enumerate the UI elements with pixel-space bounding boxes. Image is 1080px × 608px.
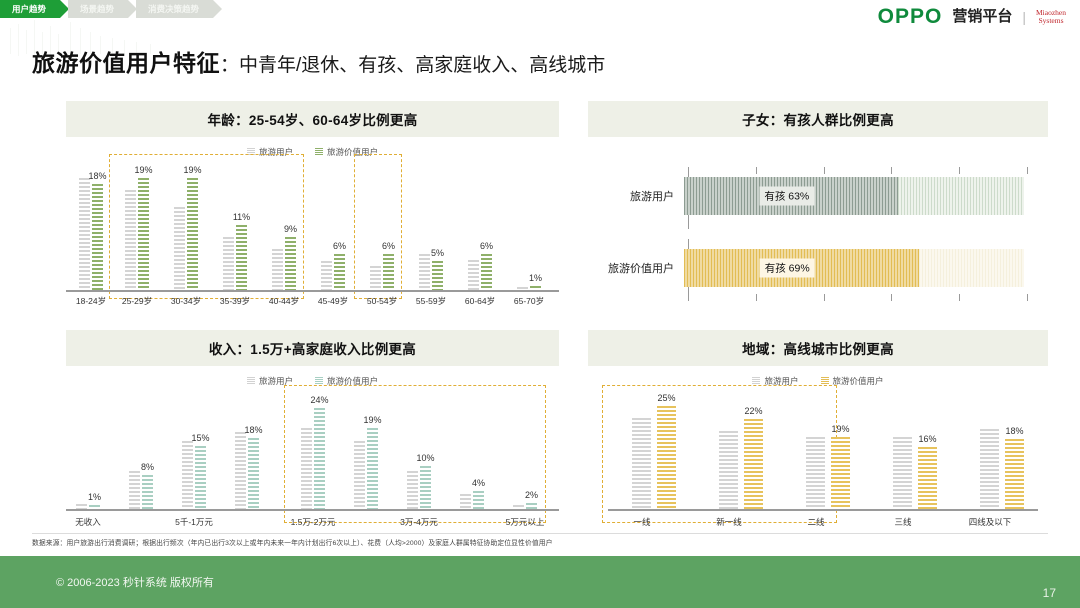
- bar-value-label: 25%: [657, 393, 675, 403]
- bar-value-label: 18%: [244, 425, 262, 435]
- bar-value-label: 9%: [284, 224, 297, 234]
- region-x-label: 新一线: [689, 516, 769, 528]
- footer-bar: © 2006-2023 秒针系统 版权所有 17: [0, 556, 1080, 608]
- tab-scene-trend[interactable]: 场景趋势: [68, 0, 128, 18]
- children-no-kid-segment: [919, 249, 1024, 287]
- region-group: 25%: [628, 399, 680, 509]
- tick: [688, 294, 689, 301]
- panel-region: 地域：高线城市比例更高 旅游用户 旅游价值用户 25% 22%: [588, 330, 1048, 530]
- tick: [891, 294, 892, 301]
- age-x-label: 55-59岁: [406, 295, 456, 307]
- age-x-label: 30-34岁: [161, 295, 211, 307]
- age-x-label: 60-64岁: [455, 295, 505, 307]
- income-group: 4%: [455, 399, 489, 509]
- bar-value: 19%: [187, 178, 198, 290]
- age-group: 18%: [74, 172, 108, 290]
- region-x-label: 四线及以下: [946, 516, 1034, 528]
- bar-value: 6%: [334, 254, 345, 290]
- children-row-value: 旅游价值用户 有孩 69%: [588, 249, 1028, 287]
- bar-value-label: 2%: [525, 490, 538, 500]
- region-group: 19%: [802, 399, 854, 509]
- bar-value: 5%: [432, 261, 443, 290]
- children-has-kid-segment: 有孩 69%: [684, 249, 919, 287]
- page-number: 17: [1043, 586, 1056, 600]
- page-title-rest: ：中青年/退休、有孩、高家庭收入、高线城市: [220, 50, 605, 77]
- legend-swatch-icon: [315, 377, 323, 385]
- tick: [824, 294, 825, 301]
- income-group: 1%: [71, 399, 105, 509]
- children-row-label: 旅游用户: [588, 188, 684, 204]
- bar-base: [321, 261, 332, 290]
- bar-base: [893, 437, 912, 509]
- region-group: 22%: [715, 399, 767, 509]
- children-row-track: 有孩 63%: [684, 177, 1024, 215]
- bar-value-label: 24%: [310, 395, 328, 405]
- bar-value-label: 10%: [416, 453, 434, 463]
- bar-value-label: 18%: [88, 171, 106, 181]
- age-group: 9%: [267, 172, 301, 290]
- bar-base: [460, 494, 471, 509]
- bar-value: 9%: [285, 237, 296, 290]
- panel-children: 子女：有孩人群比例更高 旅游用户 有孩 63% 旅游价值用户: [588, 101, 1048, 306]
- children-has-kid-segment: 有孩 63%: [684, 177, 898, 215]
- bar-value: 8%: [142, 475, 153, 509]
- panel-income-title: 收入：1.5万+高家庭收入比例更高: [66, 330, 559, 366]
- panel-age-title: 年龄：25-54岁、60-64岁比例更高: [66, 101, 559, 137]
- age-group: 11%: [218, 172, 252, 290]
- age-group: 19%: [169, 172, 203, 290]
- children-row-label: 旅游价值用户: [588, 260, 684, 276]
- age-group: 6%: [365, 172, 399, 290]
- legend-swatch-icon: [752, 377, 760, 385]
- bar-base: [79, 178, 90, 290]
- age-x-label: 35-39岁: [210, 295, 260, 307]
- age-group: 6%: [316, 172, 350, 290]
- bar-value-label: 8%: [141, 462, 154, 472]
- children-has-kid-label: 有孩 69%: [760, 259, 815, 278]
- tick: [824, 167, 825, 174]
- region-chart: 25% 22% 19% 16%: [588, 393, 1048, 528]
- bar-value: 18%: [1005, 439, 1024, 509]
- age-group: 5%: [414, 172, 448, 290]
- bar-base: [223, 237, 234, 290]
- legend-swatch-icon: [315, 148, 323, 156]
- bar-base: [419, 254, 430, 290]
- bar-value: 24%: [314, 408, 325, 509]
- panel-age: 年龄：25-54岁、60-64岁比例更高 旅游用户 旅游价值用户 18%: [66, 101, 559, 306]
- age-x-label: 25-29岁: [112, 295, 162, 307]
- bar-value: 19%: [831, 437, 850, 509]
- income-chart: 1% 8% 15% 18%: [66, 393, 559, 528]
- bar-base: [632, 418, 651, 509]
- copyright-text: © 2006-2023 秒针系统 版权所有: [56, 574, 214, 590]
- legend-label: 旅游价值用户: [833, 375, 884, 387]
- bar-base: [719, 431, 738, 509]
- bar-value-label: 1%: [88, 492, 101, 502]
- children-chart: 旅游用户 有孩 63% 旅游价值用户 有孩 69%: [588, 163, 1048, 318]
- tab-label: 消费决策趋势: [148, 3, 199, 15]
- bar-base: [806, 437, 825, 509]
- income-group: 8%: [124, 399, 158, 509]
- region-x-label: 二线: [776, 516, 856, 528]
- bar-value-label: 6%: [333, 241, 346, 251]
- top-tab-bar[interactable]: 用户趋势 场景趋势 消费决策趋势: [0, 0, 221, 18]
- age-group: 6%: [463, 172, 497, 290]
- bar-value: 18%: [92, 184, 103, 290]
- bar-base: [174, 207, 185, 290]
- tick: [756, 294, 757, 301]
- region-x-label: 三线: [863, 516, 943, 528]
- bar-value: 19%: [138, 178, 149, 290]
- bar-value-label: 1%: [529, 273, 542, 283]
- tab-user-trend[interactable]: 用户趋势: [0, 0, 60, 18]
- bar-value-label: 18%: [1005, 426, 1023, 436]
- bar-base: [354, 441, 365, 509]
- footnote-divider: [32, 533, 1048, 534]
- bar-base: [301, 428, 312, 509]
- panel-income: 收入：1.5万+高家庭收入比例更高 旅游用户 旅游价值用户 1% 8%: [66, 330, 559, 530]
- bar-base: [129, 471, 140, 509]
- region-group: 16%: [889, 399, 941, 509]
- bar-base: [370, 266, 381, 290]
- age-x-label: 18-24岁: [66, 295, 116, 307]
- bar-base: [980, 429, 999, 509]
- children-top-ticks: [688, 167, 1028, 174]
- miaozhen-line2: Systems: [1036, 17, 1066, 25]
- bar-value-label: 19%: [363, 415, 381, 425]
- tab-purchase-decision-trend[interactable]: 消费决策趋势: [136, 0, 213, 18]
- bar-value-label: 22%: [744, 406, 762, 416]
- brand-separator: |: [1022, 9, 1026, 25]
- panel-children-title: 子女：有孩人群比例更高: [588, 101, 1048, 137]
- bar-base: [468, 260, 479, 290]
- bar-value-label: 11%: [233, 212, 250, 222]
- bar-value: 4%: [473, 491, 484, 509]
- income-x-label: 5万元以上: [494, 516, 556, 528]
- income-group: 24%: [296, 399, 330, 509]
- bar-value: 19%: [367, 428, 378, 509]
- income-group: 18%: [230, 399, 264, 509]
- tick: [756, 167, 757, 174]
- bar-value-label: 19%: [183, 165, 201, 175]
- bar-value: 25%: [657, 406, 676, 509]
- bar-base: [125, 190, 136, 290]
- panel-region-title: 地域：高线城市比例更高: [588, 330, 1048, 366]
- tick: [1027, 167, 1028, 174]
- bar-value-label: 19%: [134, 165, 152, 175]
- income-group: 19%: [349, 399, 383, 509]
- brand-bar: OPPO 营销平台 | Miaozhen Systems: [878, 6, 1066, 27]
- bar-value-label: 5%: [431, 248, 444, 258]
- income-x-label: 5千-1万元: [162, 516, 226, 528]
- tab-label: 用户趋势: [12, 3, 46, 15]
- age-group: 1%: [512, 172, 546, 290]
- bar-value: 16%: [918, 447, 937, 509]
- tick: [959, 294, 960, 301]
- bar-value: 15%: [195, 446, 206, 509]
- bar-value: 6%: [383, 254, 394, 290]
- bar-value-label: 6%: [382, 241, 395, 251]
- children-no-kid-segment: [898, 177, 1024, 215]
- bar-base: [182, 441, 193, 509]
- income-group: 15%: [177, 399, 211, 509]
- bar-value: 10%: [420, 466, 431, 509]
- tick: [891, 167, 892, 174]
- page-title-strong: 旅游价值用户特征: [32, 44, 220, 78]
- income-group: 10%: [402, 399, 436, 509]
- income-x-label: 3万-4万元: [388, 516, 450, 528]
- age-x-label: 40-44岁: [259, 295, 309, 307]
- legend-swatch-icon: [821, 377, 829, 385]
- bar-value-label: 16%: [918, 434, 936, 444]
- region-x-label: 一线: [602, 516, 682, 528]
- miaozhen-logo: Miaozhen Systems: [1036, 9, 1066, 25]
- bar-value-label: 6%: [480, 241, 493, 251]
- legend-swatch-icon: [247, 377, 255, 385]
- tick: [1027, 294, 1028, 301]
- age-plot: 18% 19% 19% 11%: [66, 172, 559, 290]
- platform-name: 营销平台: [952, 9, 1012, 24]
- bar-value: 18%: [248, 438, 259, 509]
- bar-base: [407, 471, 418, 509]
- bar-value-label: 19%: [831, 424, 849, 434]
- age-group: 19%: [120, 172, 154, 290]
- age-chart: 18% 19% 19% 11%: [66, 164, 559, 309]
- bar-value: 11%: [236, 225, 247, 290]
- income-group: 2%: [508, 399, 542, 509]
- region-x-axis: [608, 509, 1038, 511]
- region-group: 18%: [976, 399, 1028, 509]
- children-has-kid-label: 有孩 63%: [759, 187, 814, 206]
- footnote: 数据来源：用户旅游出行消费调研；根据出行频次（年内已出行3次以上或年内未来一年内…: [32, 537, 553, 547]
- bar-value: 6%: [481, 254, 492, 290]
- income-x-axis: [66, 509, 559, 511]
- bar-base: [272, 249, 283, 290]
- income-x-label: 无收入: [63, 516, 113, 528]
- age-x-label: 50-54岁: [357, 295, 407, 307]
- income-plot: 1% 8% 15% 18%: [66, 399, 559, 509]
- bar-value-label: 4%: [472, 478, 485, 488]
- bar-value-label: 15%: [191, 433, 209, 443]
- children-row-base: 旅游用户 有孩 63%: [588, 177, 1028, 215]
- region-plot: 25% 22% 19% 16%: [618, 399, 1048, 509]
- age-x-axis: [66, 290, 559, 292]
- bar-value: 22%: [744, 419, 763, 509]
- children-row-track: 有孩 69%: [684, 249, 1024, 287]
- tab-label: 场景趋势: [80, 3, 114, 15]
- age-x-label: 65-70岁: [504, 295, 554, 307]
- age-x-label: 45-49岁: [308, 295, 358, 307]
- bar-base: [235, 432, 246, 509]
- page-title: 旅游价值用户特征 ：中青年/退休、有孩、高家庭收入、高线城市: [32, 44, 605, 78]
- oppo-logo: OPPO: [878, 6, 943, 27]
- children-bottom-ticks: [688, 294, 1028, 301]
- tick: [959, 167, 960, 174]
- income-x-label: 1.5万-2万元: [279, 516, 347, 528]
